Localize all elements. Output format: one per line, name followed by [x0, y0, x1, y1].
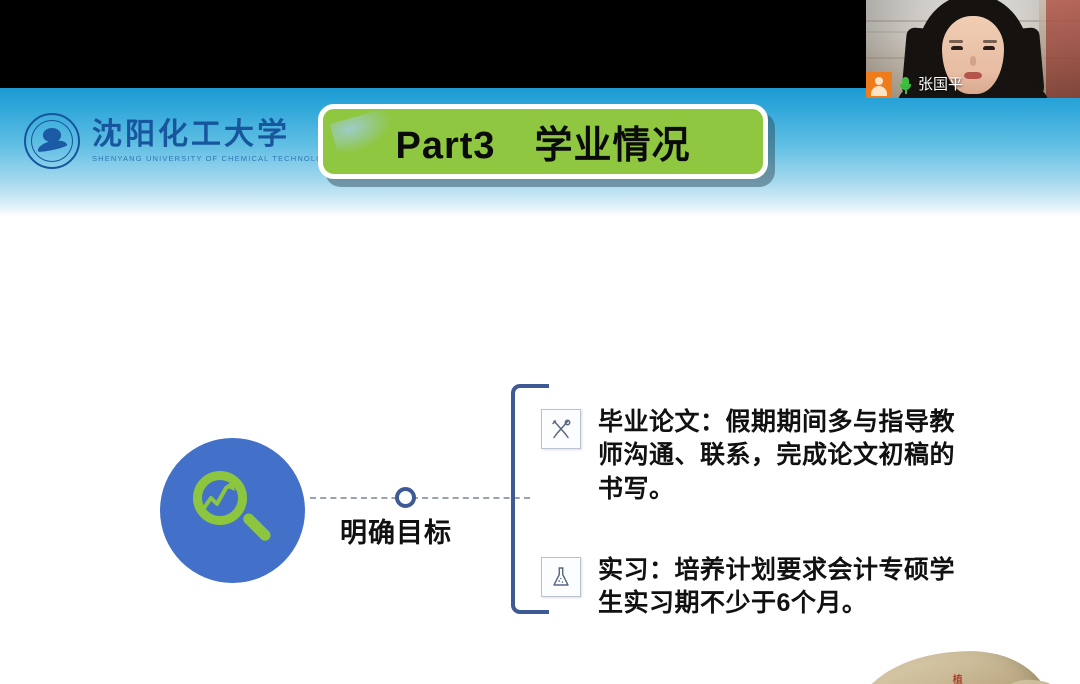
- goal-circle: [160, 438, 305, 583]
- flask-icon: [541, 557, 581, 597]
- microphone-icon[interactable]: [899, 77, 912, 94]
- participant-video-tile[interactable]: 张国平: [866, 0, 1080, 98]
- university-name-cn: 沈阳化工大学: [92, 119, 336, 151]
- presentation-slide: 沈阳化工大学 SHENYANG UNIVERSITY OF CHEMICAL T…: [0, 88, 1080, 684]
- participant-name-badge: 张国平: [866, 72, 971, 98]
- university-logo: 沈阳化工大学 SHENYANG UNIVERSITY OF CHEMICAL T…: [24, 113, 336, 169]
- slide-title-banner: Part3 学业情况: [318, 104, 768, 179]
- list-item: 实习：培养计划要求会计专硕学生实习期不少于6个月。: [541, 554, 978, 621]
- list-item: 毕业论文：假期期间多与指导教师沟通、联系，完成论文初稿的书写。: [541, 406, 978, 506]
- person-avatar-icon: [866, 72, 892, 98]
- connector-ring-node: [395, 487, 416, 508]
- screenshot-root: 沈阳化工大学 SHENYANG UNIVERSITY OF CHEMICAL T…: [0, 0, 1080, 684]
- university-seal-icon: [24, 113, 80, 169]
- list-item-text: 实习：培养计划要求会计专硕学生实习期不少于6个月。: [598, 554, 978, 621]
- university-logo-text: 沈阳化工大学 SHENYANG UNIVERSITY OF CHEMICAL T…: [92, 119, 336, 163]
- list-item-text: 毕业论文：假期期间多与指导教师沟通、联系，完成论文初稿的书写。: [598, 406, 978, 506]
- rock-engraving-text: 植根沃土 务实求新: [950, 674, 960, 684]
- participant-name: 张国平: [918, 72, 971, 98]
- university-name-en: SHENYANG UNIVERSITY OF CHEMICAL TECHNOLO…: [92, 154, 336, 163]
- crossed-tools-icon: [541, 409, 581, 449]
- dotted-connector-line: [310, 497, 530, 499]
- magnifier-chart-icon: [191, 469, 275, 553]
- campus-landmark-rock-photo: 植根沃土 务实求新: [832, 628, 1080, 684]
- page-title: Part3 学业情况: [395, 114, 690, 169]
- goal-label: 明确目标: [340, 511, 452, 550]
- slide-body: 明确目标 毕业论文：假期期间: [0, 216, 1080, 684]
- slide-header: 沈阳化工大学 SHENYANG UNIVERSITY OF CHEMICAL T…: [0, 88, 1080, 216]
